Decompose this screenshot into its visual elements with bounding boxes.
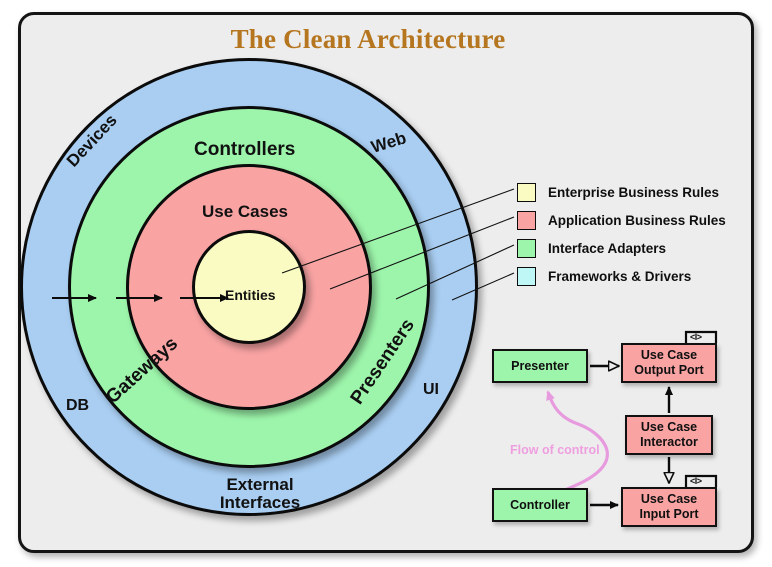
interactor-line1: Use Case [641, 420, 697, 434]
flow-box-interactor-text: Use Case Interactor [640, 420, 698, 450]
legend-item-enterprise-business-rules: Enterprise Business Rules [517, 180, 726, 205]
legend-item-frameworks-and-drivers: Frameworks & Drivers [517, 264, 726, 289]
label-use-cases: Use Cases [202, 203, 288, 221]
flow-box-presenter: Presenter [492, 349, 588, 383]
interface-tag-input-port: <I> [690, 476, 702, 486]
flow-box-output-port-text: Use Case Output Port [634, 348, 703, 378]
legend-label-frameworks: Frameworks & Drivers [548, 269, 691, 284]
output-port-line2: Output Port [634, 363, 703, 377]
input-port-line1: Use Case [641, 492, 697, 506]
flow-box-input-port-text: Use Case Input Port [639, 492, 698, 522]
output-port-line1: Use Case [641, 348, 697, 362]
label-external-line1: External [182, 476, 338, 494]
label-ui: UI [423, 382, 439, 399]
legend-item-interface-adapters: Interface Adapters [517, 236, 726, 261]
label-external-interfaces: External Interfaces [182, 476, 338, 512]
legend-swatch-application [517, 211, 536, 230]
flow-of-control-label: Flow of control [510, 443, 600, 457]
legend-label-enterprise: Enterprise Business Rules [548, 185, 719, 200]
flow-box-use-case-input-port: Use Case Input Port [621, 487, 717, 527]
flow-box-use-case-interactor: Use Case Interactor [625, 415, 713, 455]
flow-box-controller: Controller [492, 488, 588, 522]
flow-box-presenter-label: Presenter [511, 359, 569, 374]
legend-swatch-adapters [517, 239, 536, 258]
legend-label-adapters: Interface Adapters [548, 241, 666, 256]
flow-box-controller-label: Controller [510, 498, 570, 513]
legend-item-application-business-rules: Application Business Rules [517, 208, 726, 233]
legend-swatch-enterprise [517, 183, 536, 202]
label-controllers: Controllers [194, 140, 295, 160]
legend-swatch-frameworks [517, 267, 536, 286]
label-db: DB [66, 398, 89, 415]
input-port-line2: Input Port [639, 507, 698, 521]
label-external-line2: Interfaces [182, 494, 338, 512]
flow-box-use-case-output-port: Use Case Output Port [621, 343, 717, 383]
diagram-canvas: The Clean Architecture Devices Web DB UI… [0, 0, 772, 567]
interface-tag-output-port: <I> [690, 332, 702, 342]
interactor-line2: Interactor [640, 435, 698, 449]
legend-label-application: Application Business Rules [548, 213, 726, 228]
page-title: The Clean Architecture [0, 24, 736, 55]
legend: Enterprise Business Rules Application Bu… [517, 180, 726, 292]
label-entities: Entities [225, 288, 276, 303]
